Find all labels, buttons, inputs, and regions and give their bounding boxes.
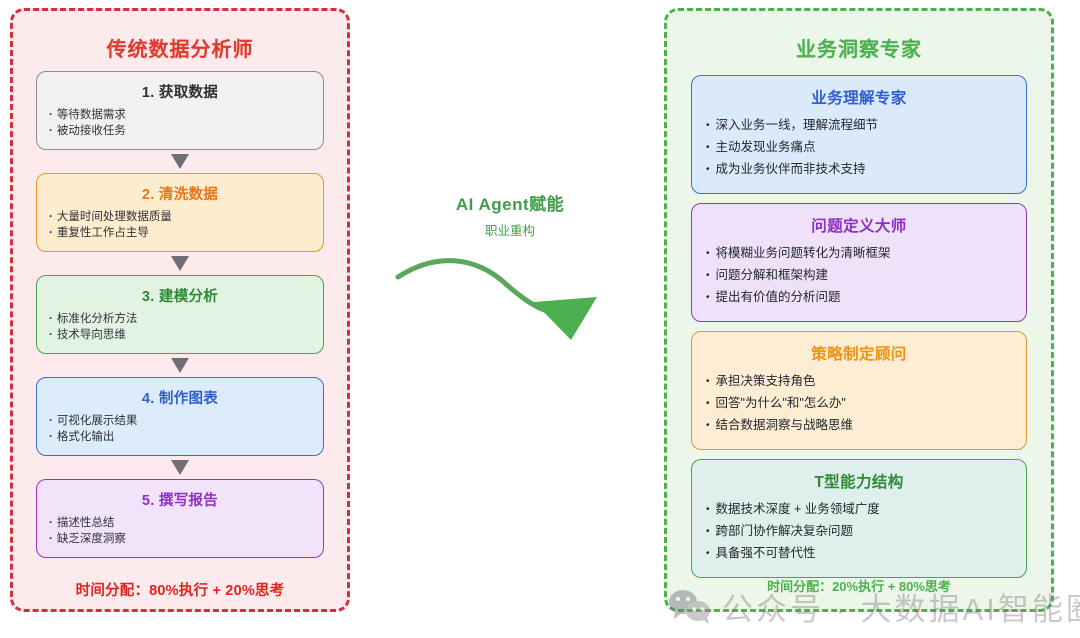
stage-bullet: 可视化展示结果 (49, 413, 311, 429)
stage-bullets: 标准化分析方法 技术导向思维 (49, 311, 311, 343)
stage-bullet: 大量时间处理数据质量 (49, 209, 311, 225)
stage-bullet: 技术导向思维 (49, 327, 311, 343)
flow-arrow-down-icon (171, 256, 189, 271)
right-panel-title: 业务洞察专家 (667, 33, 1051, 62)
stage-bullet: 格式化输出 (49, 429, 311, 445)
center-title: AI Agent赋能 (360, 190, 660, 215)
role-bullet: 承担决策支持角色 (706, 371, 1012, 393)
stage-title: 4. 制作图表 (49, 387, 311, 408)
stage-card-4[interactable]: 4. 制作图表 可视化展示结果 格式化输出 (36, 377, 324, 456)
stage-bullets: 可视化展示结果 格式化输出 (49, 413, 311, 445)
role-bullet: 问题分解和框架构建 (706, 265, 1012, 287)
role-card-t-shaped-skills[interactable]: T型能力结构 数据技术深度 + 业务领域广度 跨部门协作解决复杂问题 具备强不可… (691, 459, 1027, 578)
stage-bullets: 等待数据需求 被动接收任务 (49, 107, 311, 139)
role-card-problem-definition[interactable]: 问题定义大师 将模糊业务问题转化为清晰框架 问题分解和框架构建 提出有价值的分析… (691, 203, 1027, 322)
role-title: 问题定义大师 (706, 214, 1012, 236)
business-insight-expert-panel: 业务洞察专家 业务理解专家 深入业务一线，理解流程细节 主动发现业务痛点 成为业… (664, 8, 1054, 612)
flow-arrow-down-icon (171, 460, 189, 475)
role-bullet: 将模糊业务问题转化为清晰框架 (706, 243, 1012, 265)
stage-list: 1. 获取数据 等待数据需求 被动接收任务 2. 清洗数据 大量时间处理数据质量… (13, 71, 347, 558)
stage-bullet: 标准化分析方法 (49, 311, 311, 327)
role-bullet: 深入业务一线，理解流程细节 (706, 115, 1012, 137)
stage-card-1[interactable]: 1. 获取数据 等待数据需求 被动接收任务 (36, 71, 324, 150)
traditional-analyst-panel: 传统数据分析师 1. 获取数据 等待数据需求 被动接收任务 2. 清洗数据 大量… (10, 8, 350, 612)
role-bullet: 成为业务伙伴而非技术支持 (706, 159, 1012, 181)
stage-card-5[interactable]: 5. 撰写报告 描述性总结 缺乏深度洞察 (36, 479, 324, 558)
stage-bullet: 描述性总结 (49, 515, 311, 531)
role-bullet: 提出有价值的分析问题 (706, 287, 1012, 309)
role-bullets: 数据技术深度 + 业务领域广度 跨部门协作解决复杂问题 具备强不可替代性 (706, 499, 1012, 565)
role-title: 策略制定顾问 (706, 342, 1012, 364)
role-bullet: 回答"为什么"和"怎么办" (706, 393, 1012, 415)
stage-title: 5. 撰写报告 (49, 489, 311, 510)
left-time-allocation-note: 时间分配：80%执行 + 20%思考 (13, 579, 347, 600)
role-title: T型能力结构 (706, 470, 1012, 492)
flow-arrow-down-icon (171, 358, 189, 373)
role-bullet: 结合数据洞察与战略思维 (706, 415, 1012, 437)
stage-card-3[interactable]: 3. 建模分析 标准化分析方法 技术导向思维 (36, 275, 324, 354)
stage-bullet: 缺乏深度洞察 (49, 531, 311, 547)
role-bullet: 跨部门协作解决复杂问题 (706, 521, 1012, 543)
role-bullets: 承担决策支持角色 回答"为什么"和"怎么办" 结合数据洞察与战略思维 (706, 371, 1012, 437)
stage-bullet: 等待数据需求 (49, 107, 311, 123)
left-panel-title: 传统数据分析师 (13, 33, 347, 62)
stage-bullets: 描述性总结 缺乏深度洞察 (49, 515, 311, 547)
stage-card-2[interactable]: 2. 清洗数据 大量时间处理数据质量 重复性工作占主导 (36, 173, 324, 252)
role-bullet: 具备强不可替代性 (706, 543, 1012, 565)
center-subtitle: 职业重构 (360, 220, 660, 239)
transition-zone: AI Agent赋能 职业重构 (360, 190, 660, 340)
curved-arrow-icon (395, 245, 625, 340)
role-card-strategy-advisor[interactable]: 策略制定顾问 承担决策支持角色 回答"为什么"和"怎么办" 结合数据洞察与战略思… (691, 331, 1027, 450)
role-bullets: 将模糊业务问题转化为清晰框架 问题分解和框架构建 提出有价值的分析问题 (706, 243, 1012, 309)
stage-bullets: 大量时间处理数据质量 重复性工作占主导 (49, 209, 311, 241)
stage-title: 2. 清洗数据 (49, 183, 311, 204)
role-title: 业务理解专家 (706, 86, 1012, 108)
stage-bullet: 被动接收任务 (49, 123, 311, 139)
stage-bullet: 重复性工作占主导 (49, 225, 311, 241)
role-bullet: 主动发现业务痛点 (706, 137, 1012, 159)
role-card-business-understanding[interactable]: 业务理解专家 深入业务一线，理解流程细节 主动发现业务痛点 成为业务伙伴而非技术… (691, 75, 1027, 194)
stage-title: 1. 获取数据 (49, 81, 311, 102)
role-bullets: 深入业务一线，理解流程细节 主动发现业务痛点 成为业务伙伴而非技术支持 (706, 115, 1012, 181)
flow-arrow-down-icon (171, 154, 189, 169)
role-list: 业务理解专家 深入业务一线，理解流程细节 主动发现业务痛点 成为业务伙伴而非技术… (667, 75, 1051, 587)
role-bullet: 数据技术深度 + 业务领域广度 (706, 499, 1012, 521)
stage-title: 3. 建模分析 (49, 285, 311, 306)
